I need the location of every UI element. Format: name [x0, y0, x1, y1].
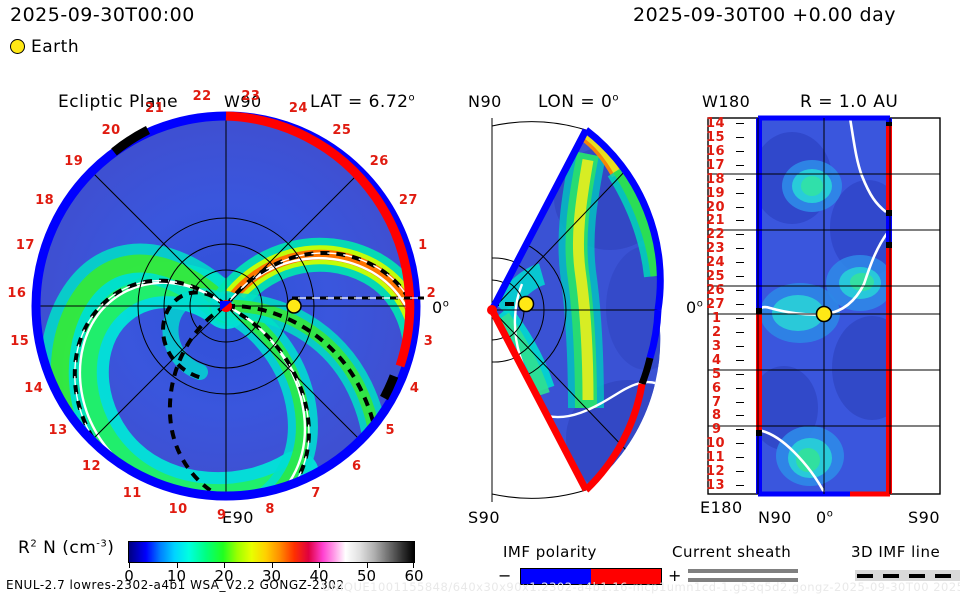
latlon-y-tick-mark: [736, 304, 744, 305]
ecliptic-day-number: 18: [35, 193, 54, 208]
epoch-label: 2025-09-30T00 +0.00 day: [633, 4, 896, 26]
latlon-y-tick-mark: [736, 346, 744, 347]
ecliptic-day-number: 17: [16, 238, 35, 253]
ecliptic-day-number: 10: [169, 502, 188, 517]
latlon-plot[interactable]: 1415161718192021222324252627123456789101…: [700, 108, 950, 504]
latlon-y-tick-mark: [736, 429, 744, 430]
latlon-y-tick-label: 16: [706, 144, 725, 159]
latlon-y-tick-label: 12: [706, 464, 725, 479]
ecliptic-right-value: 0: [432, 298, 443, 317]
model-footer: ENUL-2.7 lowres-2302-a4b1 WSA_V2.2 GONGZ…: [6, 578, 345, 592]
latlon-y-tick-mark: [736, 165, 744, 166]
latlon-y-tick-label: 3: [712, 339, 722, 354]
latlon-y-tick-mark: [736, 471, 744, 472]
meridional-right-value: 0: [686, 298, 697, 317]
latlon-y-tick-mark: [736, 220, 744, 221]
latlon-y-tick-label: 10: [706, 436, 725, 451]
ecliptic-day-number: 2: [427, 286, 437, 301]
current-sheath-line-top: [688, 569, 798, 573]
latlon-xtick-s90: S90: [908, 508, 940, 527]
ecliptic-day-number: 12: [82, 459, 101, 474]
latlon-y-tick-mark: [736, 179, 744, 180]
meridional-plot[interactable]: [460, 108, 680, 508]
latlon-y-tick-mark: [736, 388, 744, 389]
meridional-bottom-label: S90: [468, 508, 500, 527]
latlon-y-tick-label: 1: [712, 311, 722, 326]
latlon-y-tick-label: 6: [712, 381, 722, 396]
latlon-y-tick-mark: [736, 123, 744, 124]
latlon-y-tick-mark: [736, 374, 744, 375]
latlon-y-tick-label: 2: [712, 325, 722, 340]
latlon-y-tick-label: 9: [712, 422, 722, 437]
ecliptic-day-number: 25: [332, 123, 351, 138]
colorbar-label: R2 N (cm-3): [18, 538, 114, 558]
colorbar-gradient[interactable]: 0102030405060: [128, 541, 415, 563]
ecliptic-day-number: 19: [64, 154, 83, 169]
latlon-y-tick-mark: [736, 485, 744, 486]
latlon-xtick-zero-value: 0: [816, 508, 827, 527]
latlon-y-tick-label: 21: [706, 213, 725, 228]
ecliptic-day-number: 5: [385, 423, 395, 438]
timestamp-label: 2025-09-30T00:00: [10, 4, 195, 26]
ecliptic-day-number: 3: [424, 334, 434, 349]
latlon-y-tick-mark: [736, 276, 744, 277]
latlon-y-tick-label: 15: [706, 130, 725, 145]
ecliptic-day-number: 8: [265, 502, 275, 517]
latlon-y-tick-label: 25: [706, 269, 725, 284]
watermark-text: UNIQUE1001155848/640x30x90x1.2302-a4b1.1…: [322, 580, 960, 594]
ecliptic-svg: [28, 108, 424, 504]
ecliptic-day-number: 6: [352, 459, 362, 474]
latlon-y-tick-mark: [736, 207, 744, 208]
earth-dot-icon: [10, 39, 25, 54]
latlon-y-tick-label: 23: [706, 241, 725, 256]
ecliptic-bottom-label: E90: [222, 508, 254, 527]
ecliptic-plane-plot[interactable]: 1819202122232425262712345678910111213141…: [28, 108, 424, 504]
imf-line-legend-title: 3D IMF line: [851, 543, 940, 561]
latlon-y-tick-mark: [736, 332, 744, 333]
latlon-y-tick-label: 4: [712, 353, 722, 368]
latlon-y-tick-mark: [736, 262, 744, 263]
latlon-y-tick-label: 19: [706, 186, 725, 201]
ecliptic-day-number: 22: [193, 89, 212, 104]
meridional-svg: [460, 108, 680, 508]
latlon-y-tick-mark: [736, 234, 744, 235]
latlon-y-tick-label: 5: [712, 367, 722, 382]
ecliptic-day-number: 26: [370, 154, 389, 169]
latlon-y-tick-mark: [736, 248, 744, 249]
latlon-xtick-n90: N90: [758, 508, 792, 527]
latlon-y-tick-mark: [736, 193, 744, 194]
current-sheath-legend-title: Current sheath: [672, 543, 791, 561]
degree-sup-icon: o: [827, 509, 834, 520]
ecliptic-day-number: 14: [24, 381, 43, 396]
latlon-y-tick-label: 11: [706, 450, 725, 465]
ecliptic-day-number: 24: [289, 101, 308, 116]
earth-legend: Earth: [10, 37, 79, 57]
latlon-y-tick-mark: [736, 151, 744, 152]
ecliptic-day-number: 21: [145, 101, 164, 116]
latlon-y-tick-label: 26: [706, 283, 725, 298]
degree-sup-icon: o: [443, 299, 450, 310]
latlon-y-tick-label: 18: [706, 172, 725, 187]
latlon-y-tick-label: 14: [706, 116, 725, 131]
latlon-y-tick-label: 7: [712, 395, 722, 410]
latlon-y-tick-mark: [736, 443, 744, 444]
degree-sup-icon: o: [408, 92, 415, 103]
latlon-y-tick-label: 20: [706, 200, 725, 215]
latlon-y-tick-label: 13: [706, 478, 725, 493]
degree-sup-icon: o: [612, 92, 619, 103]
latlon-svg: [700, 108, 950, 504]
colorbar-label-close: ): [107, 538, 114, 558]
latlon-y-tick-label: 8: [712, 408, 722, 423]
ecliptic-day-number: 11: [123, 486, 142, 501]
ecliptic-day-number: 27: [399, 193, 418, 208]
ecliptic-day-number: 4: [410, 381, 420, 396]
latlon-y-tick-label: 22: [706, 227, 725, 242]
latlon-y-tick-mark: [736, 290, 744, 291]
ecliptic-day-number: 9: [217, 508, 227, 523]
latlon-y-tick-label: 27: [706, 297, 725, 312]
imf-polarity-legend-title: IMF polarity: [503, 543, 597, 561]
latlon-y-tick-mark: [736, 137, 744, 138]
latlon-y-tick-mark: [736, 360, 744, 361]
ecliptic-right-label: 0o: [432, 298, 449, 317]
ecliptic-day-number: 15: [10, 334, 29, 349]
latlon-y-tick-mark: [736, 415, 744, 416]
colorbar-label-r: R: [18, 538, 30, 558]
latlon-xtick-zero: 0o: [816, 508, 833, 527]
ecliptic-day-number: 1: [418, 238, 428, 253]
earth-legend-label: Earth: [31, 37, 79, 57]
ecliptic-day-number: 16: [7, 286, 26, 301]
ecliptic-day-number: 23: [241, 89, 260, 104]
colorbar-label-exp2: -3: [96, 538, 107, 549]
colorbar-label-n: N (cm: [37, 538, 96, 558]
ecliptic-day-number: 7: [311, 486, 321, 501]
latlon-y-tick-label: 24: [706, 255, 725, 270]
ecliptic-day-number: 20: [102, 123, 121, 138]
latlon-y-tick-mark: [736, 402, 744, 403]
latlon-y-tick-mark: [736, 457, 744, 458]
latlon-y-tick-label: 17: [706, 158, 725, 173]
ecliptic-day-number: 13: [49, 423, 68, 438]
latlon-y-tick-mark: [736, 318, 744, 319]
